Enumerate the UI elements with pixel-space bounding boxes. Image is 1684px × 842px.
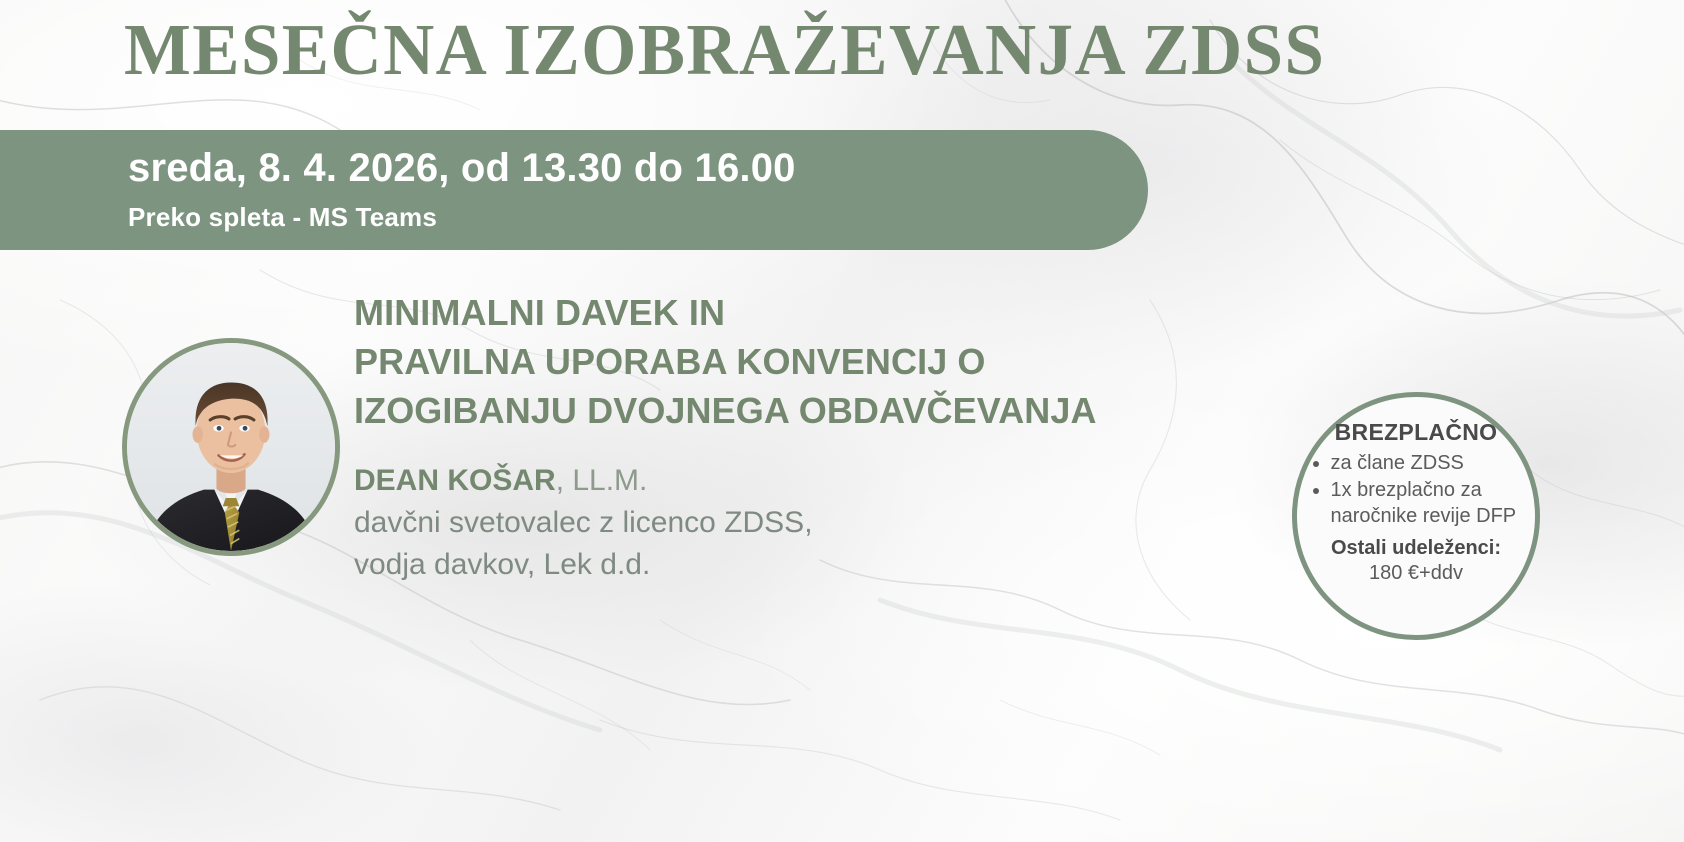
price-badge-amount: 180 €+ddv: [1369, 562, 1463, 585]
event-location-text: Preko spleta - MS Teams: [128, 202, 437, 233]
speaker-role-line-1: davčni svetovalec z licenco ZDSS,: [354, 502, 813, 544]
speaker-name-line: DEAN KOŠAR, LL.M.: [354, 460, 813, 502]
price-badge-title: BREZPLAČNO: [1335, 419, 1498, 446]
headline-line-1: MINIMALNI DAVEK IN: [354, 288, 1097, 337]
speaker-photo-image: [127, 343, 335, 551]
page-title: MESEČNA IZOBRAŽEVANJA ZDSS: [124, 8, 1325, 92]
headline-line-2: PRAVILNA UPORABA KONVENCIJ O: [354, 337, 1097, 386]
list-item: 1x brezplačno za naročnike revije DFP: [1331, 477, 1524, 529]
speaker-name: DEAN KOŠAR: [354, 464, 556, 497]
speaker-role-line-2: vodja davkov, Lek d.d.: [354, 544, 813, 586]
event-poster: MESEČNA IZOBRAŽEVANJA ZDSS sreda, 8. 4. …: [0, 0, 1684, 842]
price-badge-bullet-list: za člane ZDSS 1x brezplačno za naročnike…: [1309, 450, 1524, 530]
price-badge: BREZPLAČNO za člane ZDSS 1x brezplačno z…: [1292, 392, 1540, 640]
date-banner: sreda, 8. 4. 2026, od 13.30 do 16.00 Pre…: [0, 130, 1148, 250]
speaker-details: DEAN KOŠAR, LL.M. davčni svetovalec z li…: [354, 460, 813, 586]
list-item: za člane ZDSS: [1331, 450, 1524, 476]
session-headline: MINIMALNI DAVEK IN PRAVILNA UPORABA KONV…: [354, 288, 1097, 435]
speaker-portrait: [122, 338, 340, 556]
speaker-credential: , LL.M.: [556, 464, 648, 497]
price-badge-subtitle: Ostali udeleženci:: [1331, 537, 1501, 560]
event-date-text: sreda, 8. 4. 2026, od 13.30 do 16.00: [128, 146, 796, 191]
headline-line-3: IZOGIBANJU DVOJNEGA OBDAVČEVANJA: [354, 386, 1097, 435]
